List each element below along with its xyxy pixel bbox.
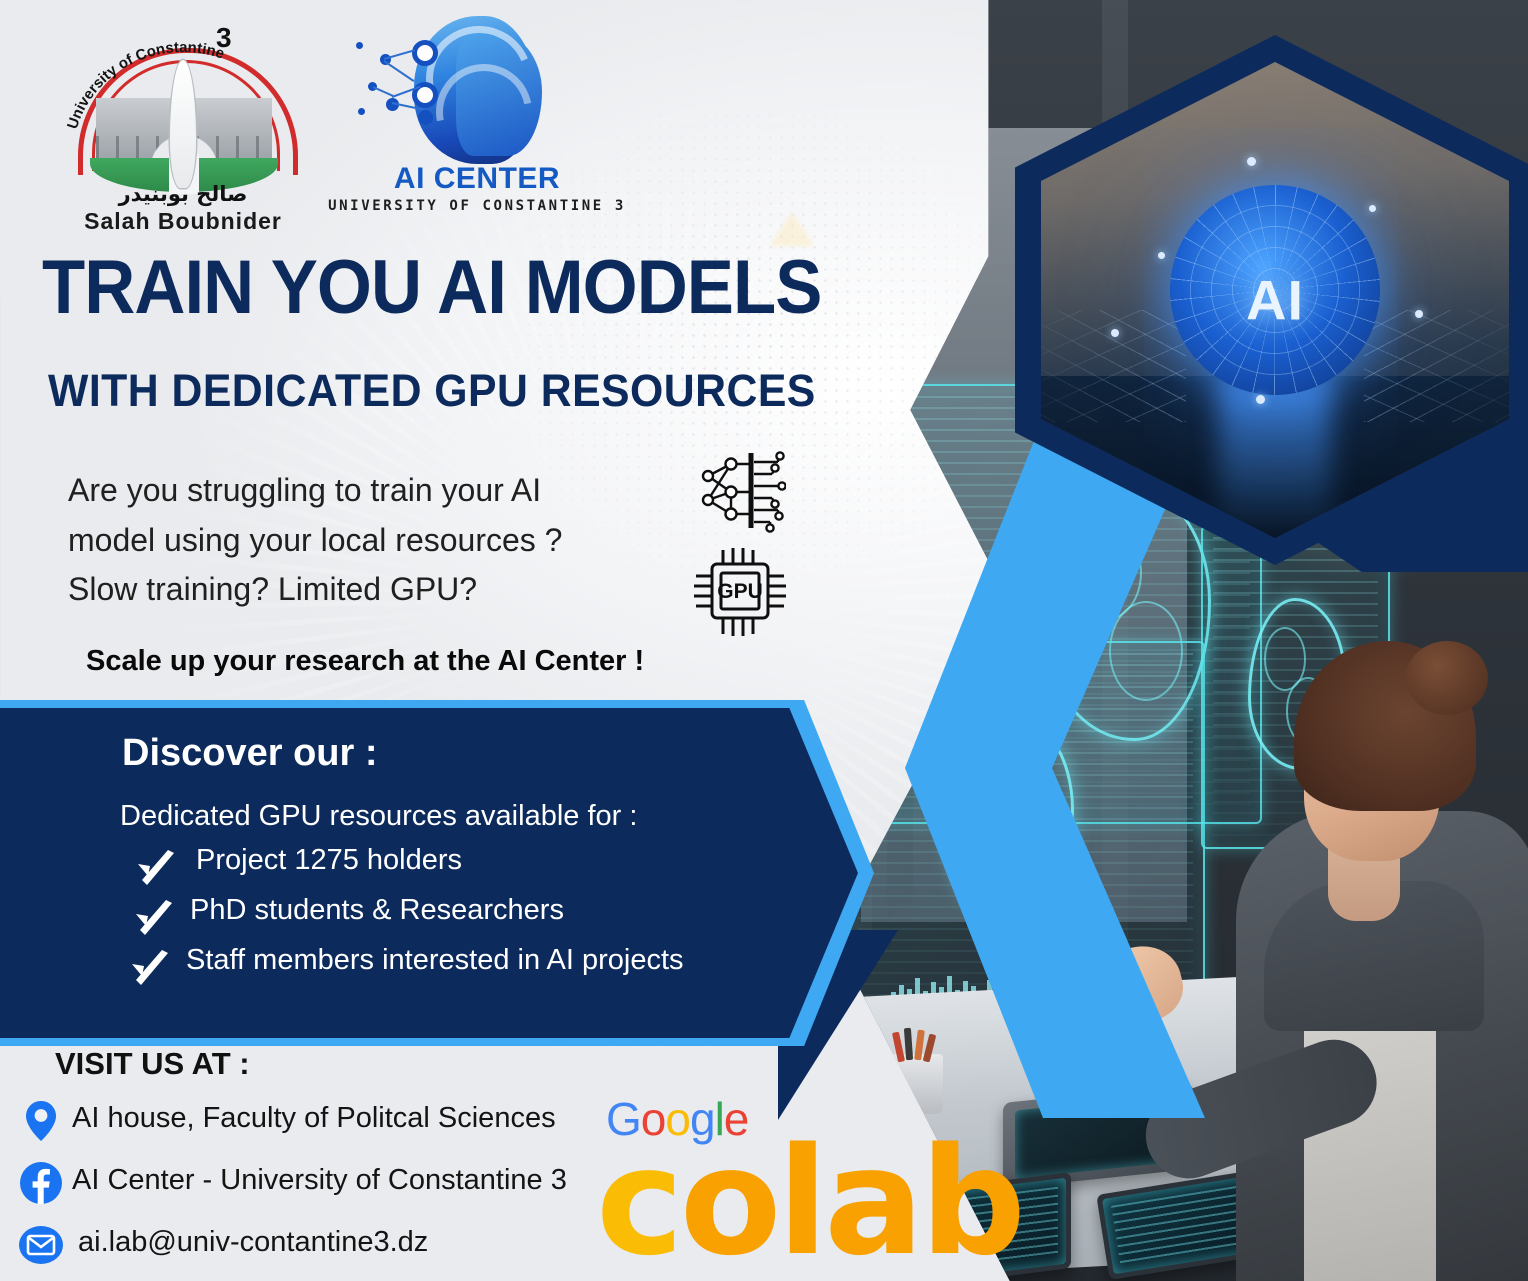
colab-wordmark: colab — [596, 1128, 1022, 1276]
poster-canvas: AI 3 University of Constantine صالح بوبن… — [0, 0, 1528, 1281]
lead-line-2: model using your local resources ? — [68, 516, 688, 566]
university-logo: 3 University of Constantine صالح بوبنيدر… — [58, 20, 308, 220]
visit-us-label: VISIT US AT : — [55, 1046, 250, 1082]
logo-row: 3 University of Constantine صالح بوبنيدر… — [40, 12, 600, 222]
check-icon — [134, 844, 178, 888]
ai-center-subtitle: UNIVERSITY OF CONSTANTINE 3 — [318, 198, 636, 214]
logo-latin-name: Salah Boubnider — [58, 208, 308, 235]
neural-network-icon — [694, 448, 786, 534]
ai-network-wing-right — [1364, 310, 1509, 422]
list-item: Project 1275 holders — [124, 842, 824, 892]
ai-badge-label: AI — [1246, 268, 1304, 333]
lead-line-1: Are you struggling to train your AI — [68, 466, 688, 516]
ai-hexagon-badge: AI — [1015, 35, 1528, 565]
list-item-label: Project 1275 holders — [196, 844, 462, 877]
ai-network-wing-left — [1041, 310, 1186, 422]
gpu-icon-label: GPU — [717, 580, 763, 603]
logo-arabic-name: صالح بوبنيدر — [58, 182, 308, 206]
list-item-label: PhD students & Researchers — [190, 894, 564, 927]
svg-text:University of Constantine: University of Constantine — [64, 39, 226, 131]
feature-panel-content: Discover our : Dedicated GPU resources a… — [0, 708, 858, 1038]
check-icon — [128, 944, 172, 988]
lead-line-3: Slow training? Limited GPU? — [68, 565, 688, 615]
facebook-icon — [18, 1160, 64, 1206]
contact-row-facebook[interactable]: AI Center - University of Constantine 3 — [10, 1160, 630, 1222]
contact-row-address[interactable]: AI house, Faculty of Politcal Sciences — [10, 1098, 630, 1160]
colab-letter-c: c — [596, 1116, 680, 1281]
panel-audience-list: Project 1275 holders PhD students & Rese… — [124, 842, 824, 992]
list-item: PhD students & Researchers — [124, 892, 824, 942]
lead-paragraph: Are you struggling to train your AI mode… — [68, 466, 688, 615]
logo-arc-text: University of Constantine — [62, 26, 304, 146]
ai-center-title: AI CENTER — [352, 162, 602, 196]
contact-facebook-text: AI Center - University of Constantine 3 — [72, 1164, 567, 1197]
headline-primary: TRAIN YOU AI MODELS — [42, 250, 821, 326]
background-glow-triangle — [770, 212, 814, 246]
call-to-action-text: Scale up your research at the AI Center … — [86, 645, 644, 678]
ai-node-cluster — [356, 36, 448, 146]
contact-list: AI house, Faculty of Politcal Sciences A… — [10, 1098, 630, 1281]
colab-rest: olab — [680, 1116, 1022, 1281]
email-icon — [18, 1222, 64, 1268]
researcher-hair-bun — [1406, 641, 1488, 715]
location-pin-icon — [18, 1098, 64, 1144]
google-colab-logo: Google colab — [596, 1092, 996, 1277]
panel-heading: Discover our : — [122, 732, 378, 775]
headline-secondary: WITH DEDICATED GPU RESOURCES — [48, 368, 816, 413]
contact-address-text: AI house, Faculty of Politcal Sciences — [72, 1102, 556, 1135]
check-icon — [132, 894, 176, 938]
panel-subheading: Dedicated GPU resources available for : — [120, 800, 637, 833]
contact-email-text: ai.lab@univ-contantine3.dz — [78, 1226, 428, 1259]
list-item: Staff members interested in AI projects — [124, 942, 824, 992]
researcher-figure — [1208, 581, 1528, 1281]
ai-center-logo: AI CENTER UNIVERSITY OF CONSTANTINE 3 — [352, 12, 602, 222]
gpu-chip-icon: GPU — [690, 544, 790, 638]
list-item-label: Staff members interested in AI projects — [186, 944, 684, 977]
logo-arc-text-svg: University of Constantine — [62, 26, 304, 146]
contact-row-email[interactable]: ai.lab@univ-contantine3.dz — [10, 1222, 630, 1281]
